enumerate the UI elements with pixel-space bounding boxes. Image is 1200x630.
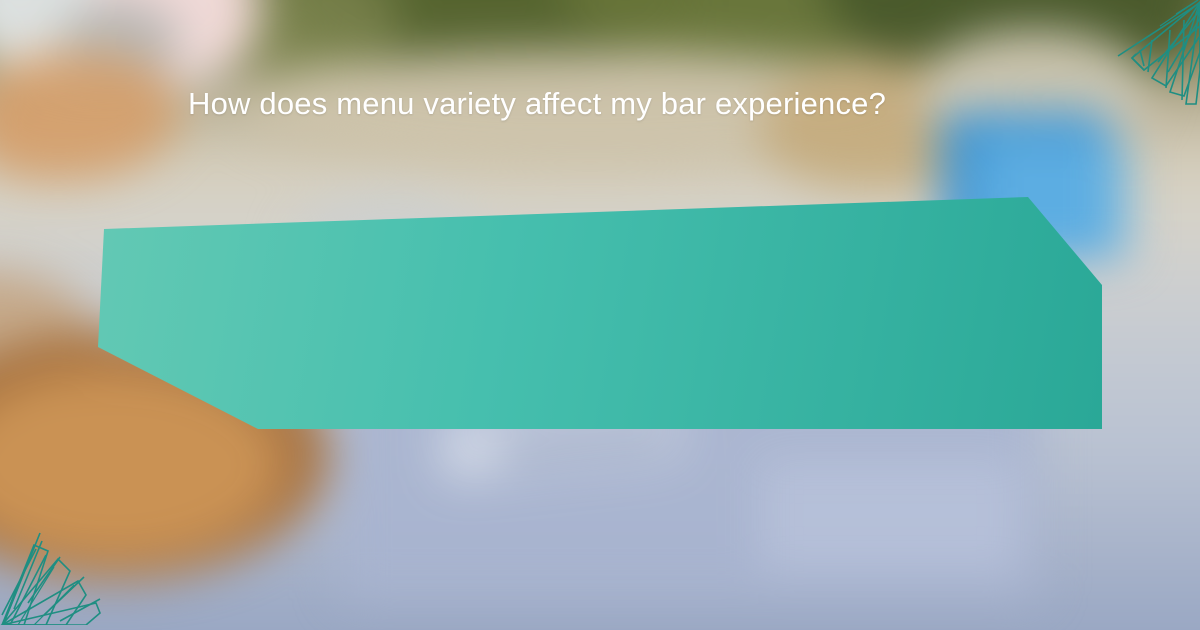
headline-banner-fill: [98, 197, 1102, 429]
orange-object: [0, 50, 180, 180]
table-paper-right: [760, 460, 1020, 570]
headline-text: How does menu variety affect my bar expe…: [188, 78, 888, 129]
share-card: How does menu variety affect my bar expe…: [0, 0, 1200, 630]
headline-banner: [98, 197, 1102, 429]
